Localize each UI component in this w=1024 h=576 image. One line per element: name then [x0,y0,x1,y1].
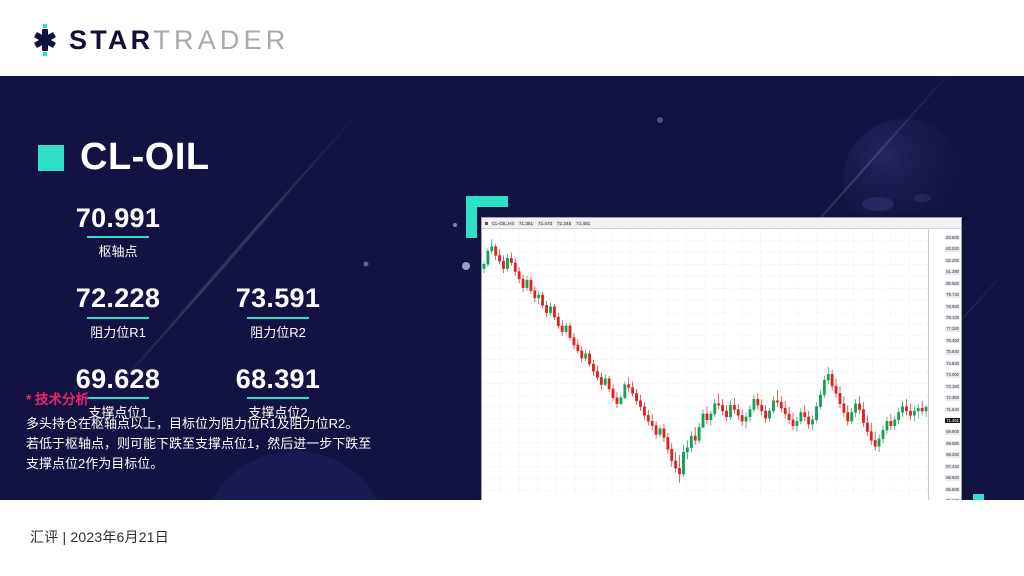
level-r2-value: 73.591 [198,284,358,312]
level-pivot-label: 枢轴点 [38,241,198,260]
brand-name-light: TRADER [153,25,289,56]
chart-title-close: 71.461 [575,221,591,226]
price-tick: 83.600 [945,235,960,240]
brand-name-bold: STAR [69,25,153,56]
price-tick: 67.440 [945,464,960,469]
levels-row-resistance: 72.228 阻力位R1 73.591 阻力位R2 [38,284,378,340]
chart-title-open: 71.361 [518,221,534,226]
price-tick: 65.800 [945,487,960,492]
chart-symbol-dot-icon [485,222,488,225]
price-tick: 69.900 [945,429,960,434]
level-underline [87,317,149,319]
price-tick: 71.461 [945,418,960,423]
price-tick: 78.920 [945,304,960,309]
accent-square-icon [38,145,64,171]
price-tick: 80.560 [945,281,960,286]
chart-title-low: 71.245 [556,221,572,226]
price-tick: 81.380 [945,269,960,274]
analysis-line-1: 多头持仓在枢轴点以上，目标位为阻力位R1及阻力位R2。 [26,414,406,434]
price-tick: 77.280 [945,326,960,331]
price-axis: 83.60083.02082.20081.38080.56079.74078.9… [928,229,961,500]
technical-analysis: * 技术分析 多头持仓在枢轴点以上，目标位为阻力位R1及阻力位R2。 若低于枢轴… [26,388,406,474]
chart-plot-area [482,229,928,500]
analysis-title: * 技术分析 [26,388,406,408]
price-tick: 66.620 [945,475,960,480]
spacer [38,260,378,284]
price-tick: 71.540 [945,407,960,412]
price-tick: 76.460 [945,338,960,343]
price-tick: 83.020 [945,246,960,251]
chart-titlebar: CL-OIL,H4 71.361 71.473 71.245 71.461 [482,218,961,229]
asterisk-star-icon [30,24,60,56]
main-stage: CL-OIL 70.991 枢轴点 72.228 阻力位R1 73.591 阻力… [0,76,1024,500]
level-underline [247,317,309,319]
brand-logo: STAR TRADER [30,24,290,56]
level-r1: 72.228 阻力位R1 [38,284,198,340]
level-pivot: 70.991 枢轴点 [38,204,198,260]
level-r2-label: 阻力位R2 [198,322,358,341]
page-footer: 汇评 | 2023年6月21日 [0,500,1024,576]
price-tick: 79.740 [945,292,960,297]
price-tick: 68.260 [945,452,960,457]
price-tick: 72.360 [945,395,960,400]
level-underline [87,236,149,238]
chart-title-symbol: CL-OIL,H4 [491,221,515,226]
price-tick: 73.180 [945,384,960,389]
price-tick: 78.100 [945,315,960,320]
price-tick: 74.820 [945,361,960,366]
footer-caption: 汇评 | 2023年6月21日 [30,527,169,547]
chart-window: CL-OIL,H4 71.361 71.473 71.245 71.461 83… [481,217,962,500]
level-r2: 73.591 阻力位R2 [198,284,358,340]
page-header: STAR TRADER [0,0,1024,76]
chart-title-high: 71.473 [537,221,553,226]
price-tick: 74.000 [945,372,960,377]
price-tick: 69.080 [945,441,960,446]
level-pivot-value: 70.991 [38,204,198,232]
analysis-line-2: 若低于枢轴点，则可能下跌至支撑点位1，然后进一步下跌至 [26,434,406,454]
instrument-title: CL-OIL [38,136,210,179]
spacer [38,341,378,365]
level-r1-label: 阻力位R1 [38,322,198,341]
candlestick-series [482,229,928,500]
levels-row-pivot: 70.991 枢轴点 [38,204,378,260]
price-tick: 75.640 [945,349,960,354]
price-tick: 82.200 [945,258,960,263]
page-title: CL-OIL [80,136,210,179]
level-r1-value: 72.228 [38,284,198,312]
analysis-line-3: 支撑点位2作为目标位。 [26,454,406,474]
